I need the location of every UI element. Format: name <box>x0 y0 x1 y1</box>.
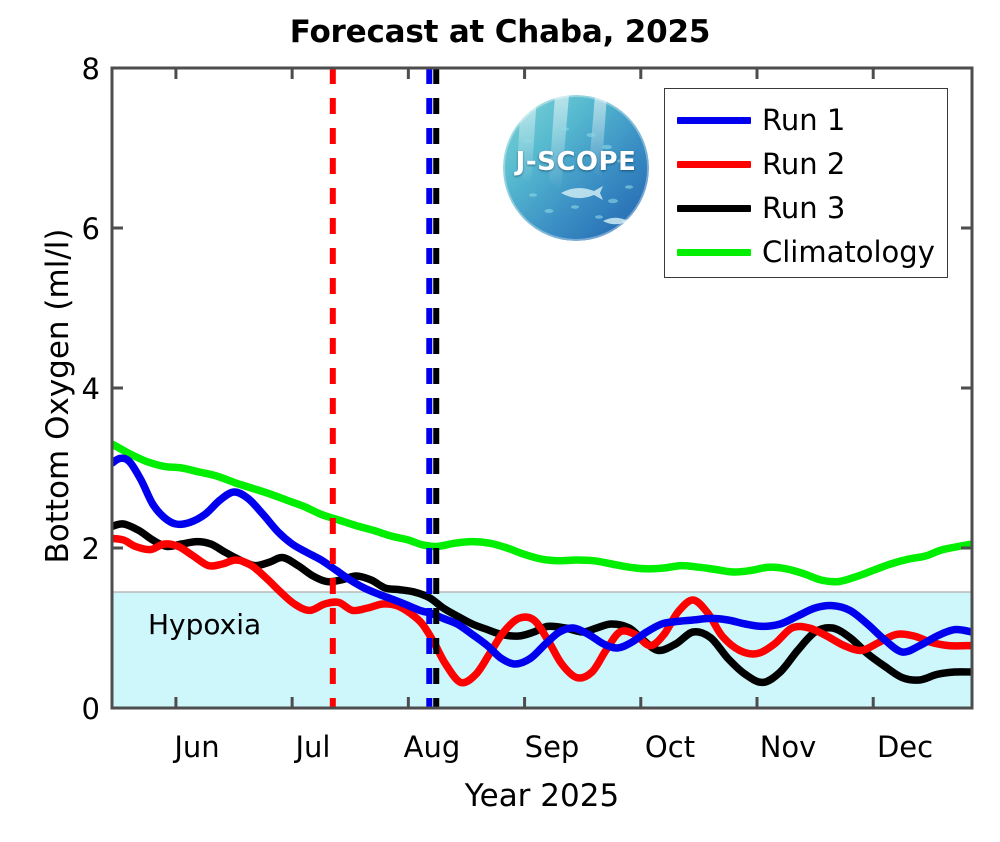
logo-text: J-SCOPE <box>503 147 649 177</box>
legend-item-climatology[interactable]: Climatology <box>665 230 947 274</box>
legend-label-run-1: Run 1 <box>762 106 845 135</box>
legend-label-run-2: Run 2 <box>762 150 845 179</box>
y-tick-label-6: 6 <box>40 212 100 246</box>
x-tick-label-oct: Oct <box>610 730 730 764</box>
figure-root: Forecast at Chaba, 2025 Bottom Oxygen (m… <box>0 0 1000 842</box>
legend-swatch-run-3 <box>677 205 751 212</box>
legend-item-run-1[interactable]: Run 1 <box>665 98 947 142</box>
y-tick-label-4: 4 <box>40 372 100 406</box>
y-tick-label-8: 8 <box>40 52 100 86</box>
legend-label-run-3: Run 3 <box>762 194 845 223</box>
legend-swatch-run-2 <box>677 161 751 168</box>
j-scope-logo: J-SCOPE <box>503 95 649 241</box>
x-tick-label-jul: Jul <box>253 730 373 764</box>
legend-swatch-run-1 <box>677 117 751 124</box>
legend-swatch-climatology <box>677 249 751 256</box>
legend-item-run-3[interactable]: Run 3 <box>665 186 947 230</box>
x-tick-label-jun: Jun <box>137 730 257 764</box>
x-axis-label: Year 2025 <box>112 778 972 814</box>
x-tick-label-dec: Dec <box>845 730 965 764</box>
x-tick-label-nov: Nov <box>728 730 848 764</box>
y-tick-label-2: 2 <box>40 532 100 566</box>
legend-item-run-2[interactable]: Run 2 <box>665 142 947 186</box>
y-tick-label-0: 0 <box>40 692 100 726</box>
x-tick-label-aug: Aug <box>372 730 492 764</box>
hypoxia-annotation: Hypoxia <box>148 608 261 641</box>
x-tick-label-sep: Sep <box>492 730 612 764</box>
legend: Run 1 Run 2 Run 3 Climatology <box>664 88 948 278</box>
legend-label-climatology: Climatology <box>762 238 935 267</box>
